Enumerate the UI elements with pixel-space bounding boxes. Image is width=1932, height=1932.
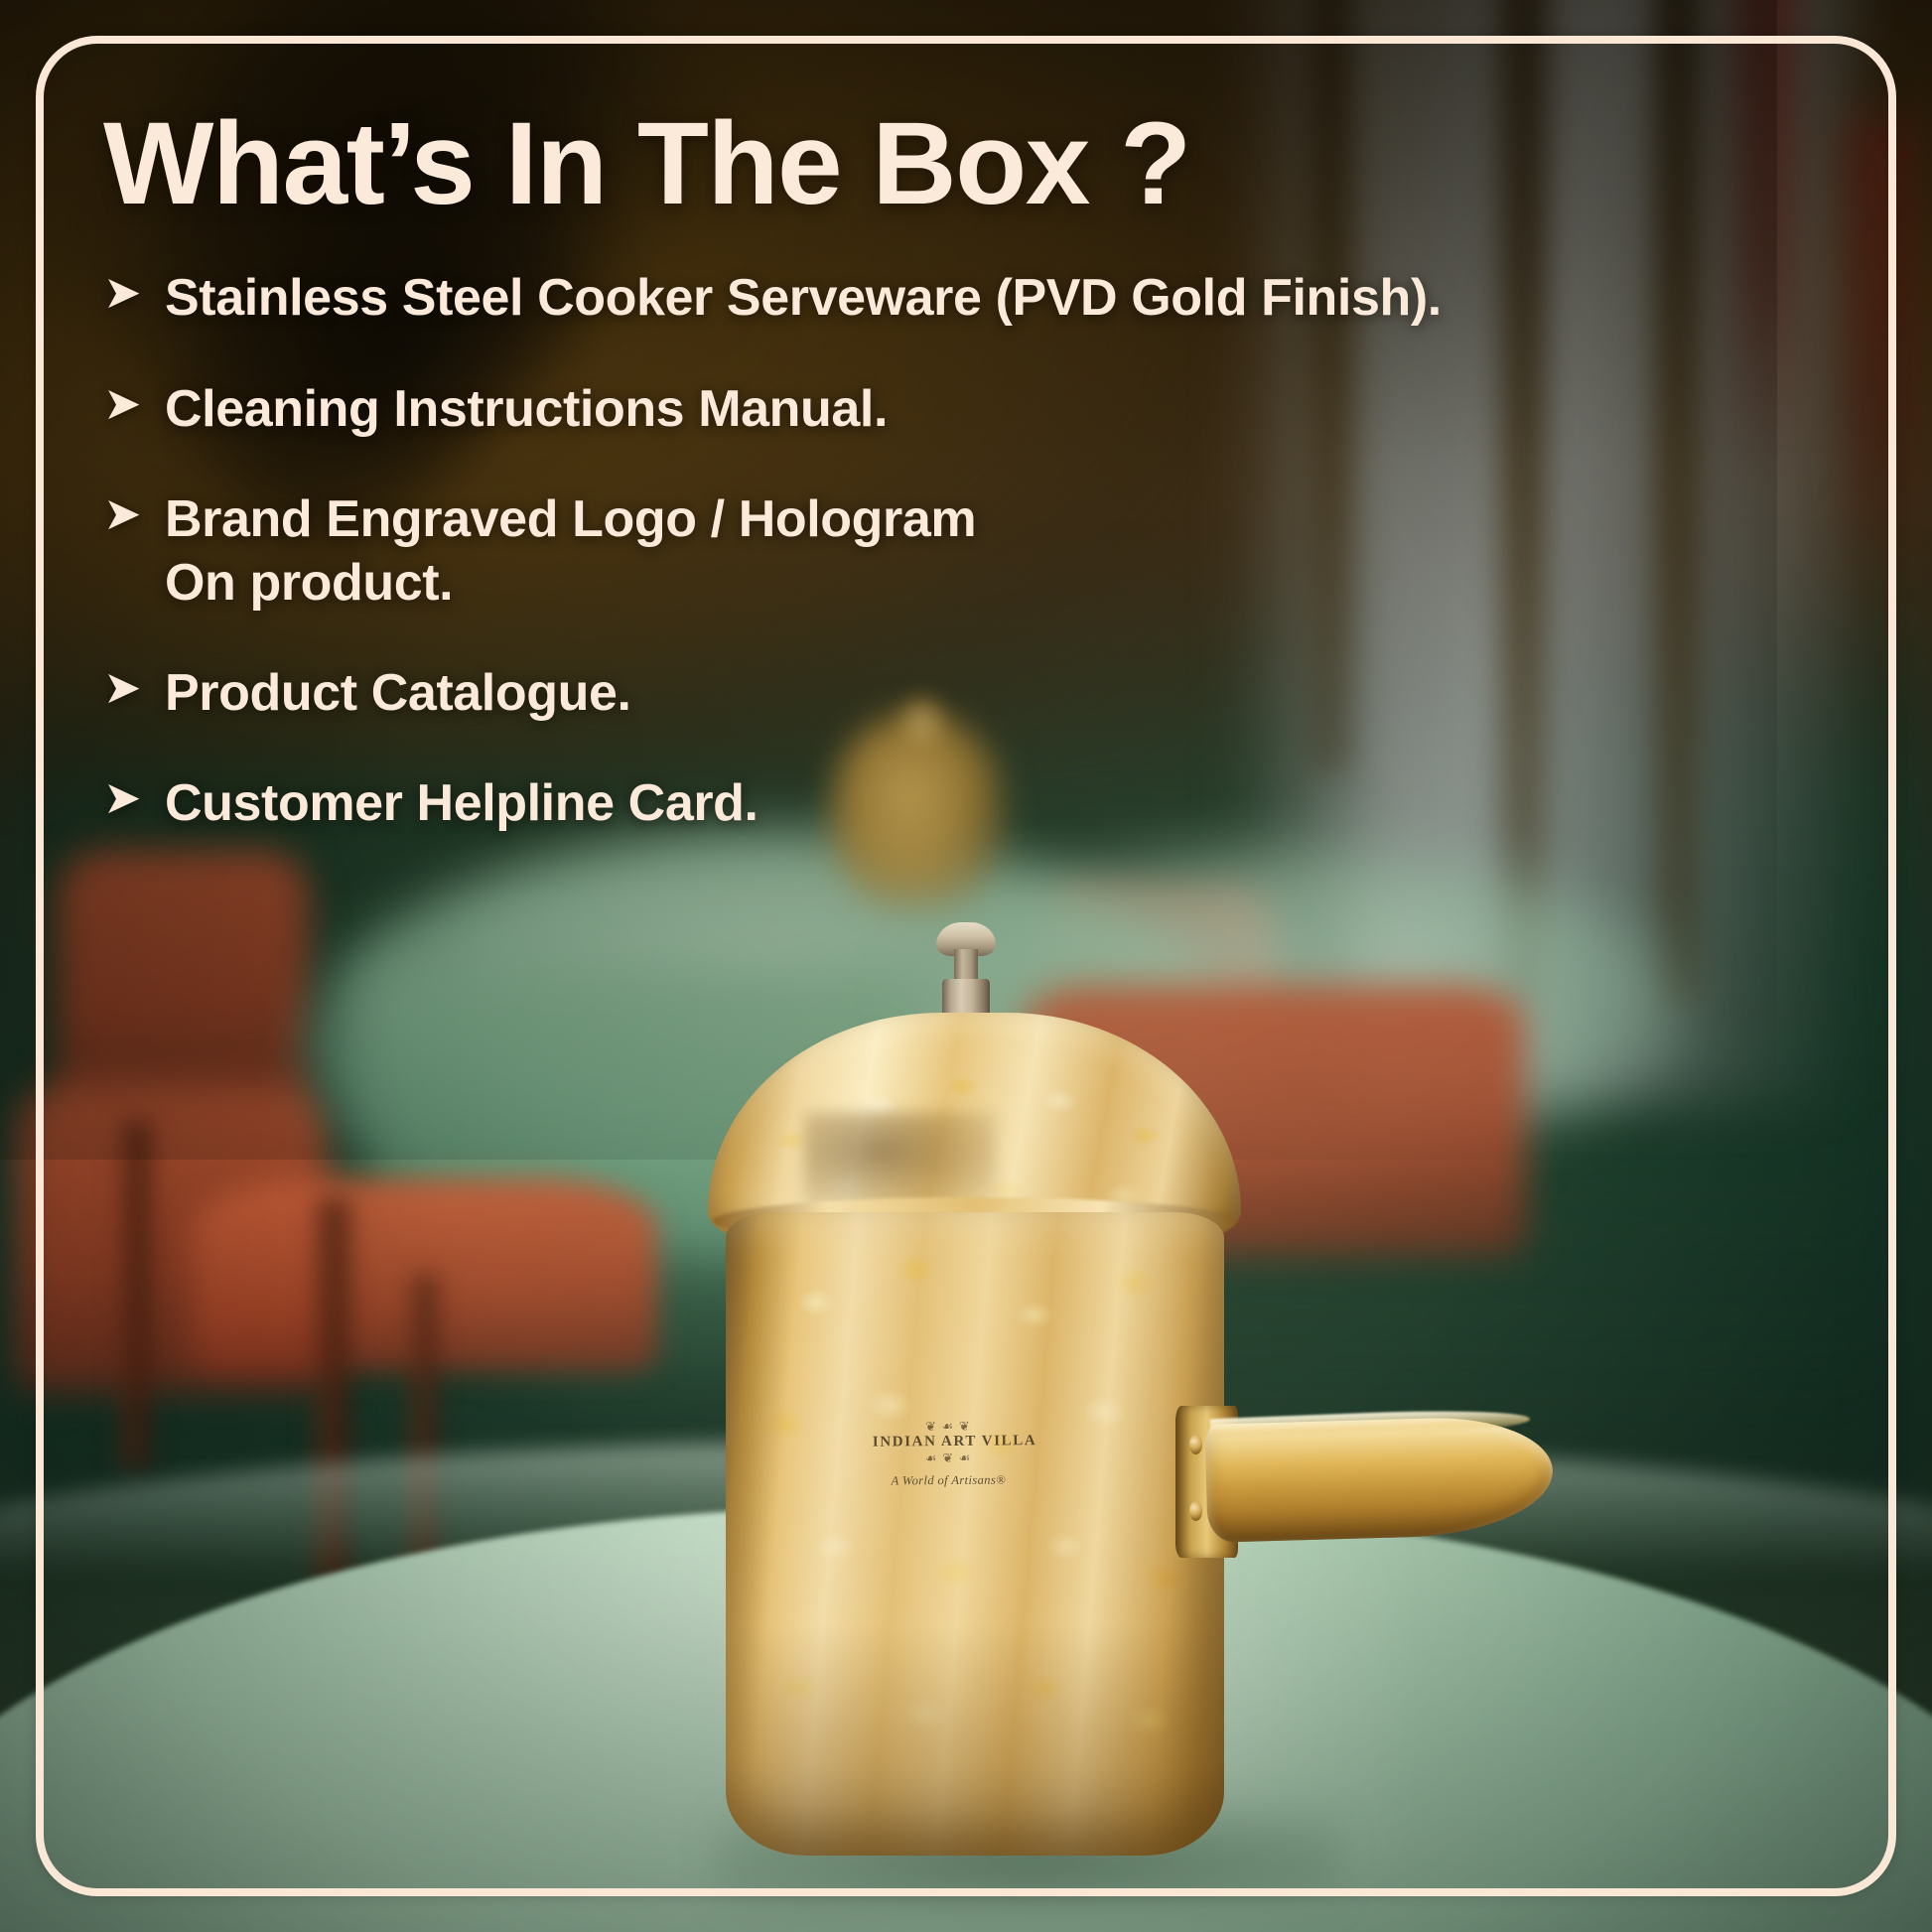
list-item-label: Product Catalogue. <box>165 662 631 725</box>
page-title: What’s In The Box ? <box>103 95 1823 233</box>
list-item: ➤ Product Catalogue. <box>103 662 1823 725</box>
list-item: ➤ Cleaning Instructions Manual. <box>103 378 1823 441</box>
arrow-bullet-icon: ➤ <box>103 269 165 316</box>
body-lowlight <box>726 1624 1223 1856</box>
brand-tagline-engraving: A World of Artisans® <box>873 1473 1024 1489</box>
arrow-bullet-icon: ➤ <box>103 664 165 711</box>
arrow-bullet-icon: ➤ <box>103 490 165 537</box>
lid-reflection <box>804 1112 996 1210</box>
brand-ornament-bottom-icon: ☙ ❦ ☙ <box>873 1451 1024 1465</box>
brand-ornament-top-icon: ❦ ☙ ❦ <box>873 1420 1024 1434</box>
arrow-bullet-icon: ➤ <box>103 774 165 821</box>
list-item-label: Customer Helpline Card. <box>165 772 759 835</box>
whats-in-the-box-list: ➤ Stainless Steel Cooker Serveware (PVD … <box>103 267 1823 836</box>
list-item-label: Brand Engraved Logo / Hologram On produc… <box>165 488 976 615</box>
brand-name-engraving: INDIAN ART VILLA <box>873 1433 1024 1452</box>
list-item-label: Cleaning Instructions Manual. <box>165 378 888 441</box>
product-image-cooker-serveware: ❦ ☙ ❦ INDIAN ART VILLA ☙ ❦ ☙ A World of … <box>699 956 1587 1903</box>
product-feature-poster: ❦ ☙ ❦ INDIAN ART VILLA ☙ ❦ ☙ A World of … <box>0 0 1932 1932</box>
cooker-body <box>726 1212 1223 1856</box>
engraved-brand-logo: ❦ ☙ ❦ INDIAN ART VILLA ☙ ❦ ☙ A World of … <box>873 1420 1025 1489</box>
arrow-bullet-icon: ➤ <box>103 380 165 427</box>
list-item-label: Stainless Steel Cooker Serveware (PVD Go… <box>165 267 1442 330</box>
list-item: ➤ Stainless Steel Cooker Serveware (PVD … <box>103 267 1823 330</box>
handle-rivet-top <box>1189 1435 1202 1454</box>
list-item: ➤ Customer Helpline Card. <box>103 772 1823 835</box>
list-item: ➤ Brand Engraved Logo / Hologram On prod… <box>103 488 1823 615</box>
text-content-block: What’s In The Box ? ➤ Stainless Steel Co… <box>103 95 1823 884</box>
handle-rivet-bottom <box>1189 1501 1202 1521</box>
